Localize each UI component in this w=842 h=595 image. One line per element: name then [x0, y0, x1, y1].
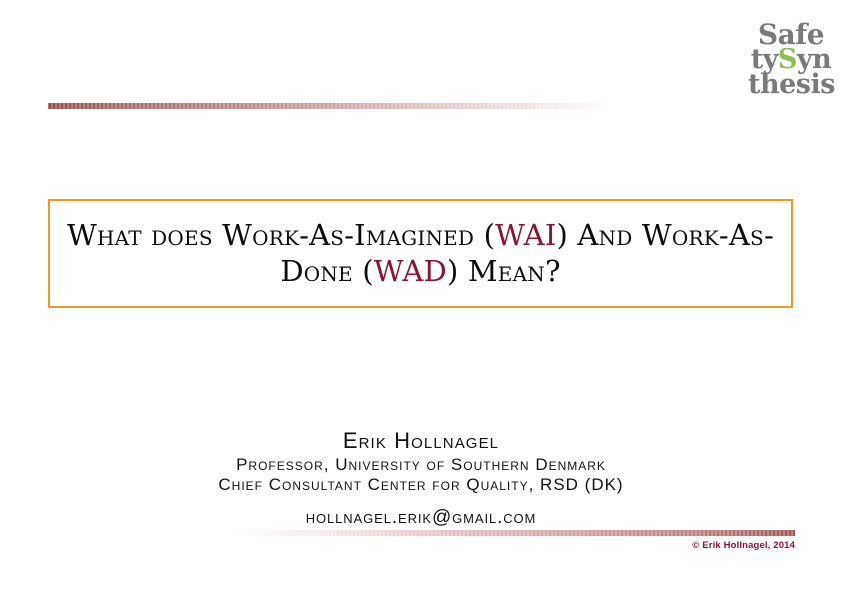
presentation-slide: Safe tySyn thesis What does Work-As-Imag…: [0, 0, 842, 595]
title-acronym-wai: WAI: [495, 218, 556, 252]
top-decorative-bar: [48, 103, 614, 109]
safetysynthesis-logo: Safe tySyn thesis: [748, 22, 834, 102]
footer-copyright: © Erik Hollnagel, 2014: [692, 540, 795, 551]
logo-line-3: thesis: [748, 73, 834, 98]
author-name: Erik Hollnagel: [0, 428, 842, 455]
title-segment-1: What does Work-As-Imagined (: [67, 218, 495, 252]
title-box: What does Work-As-Imagined (WAI) And Wor…: [48, 199, 793, 308]
author-email: hollnagel.erik@gmail.com: [0, 506, 842, 530]
author-role-line-2: Chief Consultant Center for Quality, RSD…: [0, 475, 842, 495]
title-acronym-wad: WAD: [374, 254, 447, 288]
author-role-line-1: Professor, University of Southern Denmar…: [0, 455, 842, 475]
author-block: Erik Hollnagel Professor, University of …: [0, 428, 842, 529]
page-title: What does Work-As-Imagined (WAI) And Wor…: [50, 218, 791, 289]
title-segment-5: ) Mean?: [447, 254, 561, 288]
bottom-decorative-bar: [232, 530, 795, 536]
